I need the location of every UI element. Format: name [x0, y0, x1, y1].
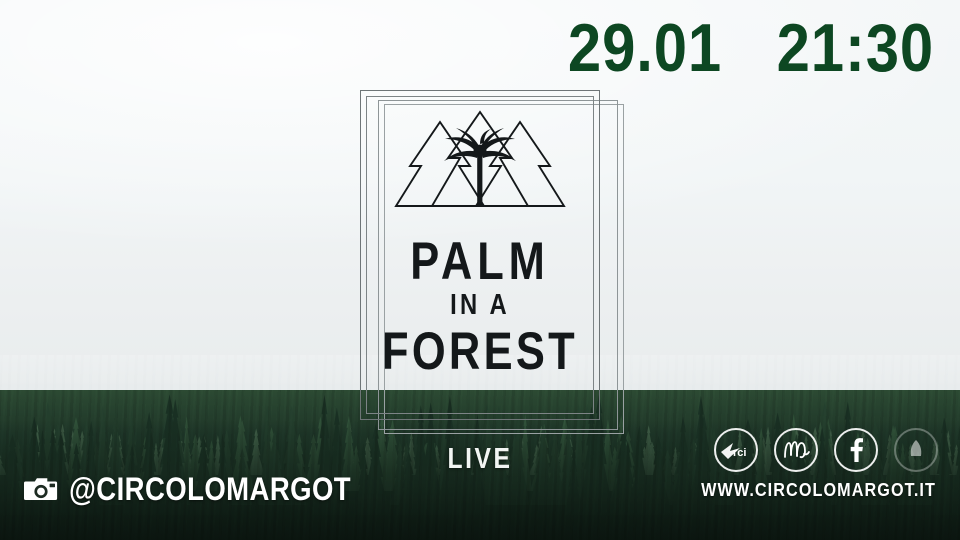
logo-title-forest: FOREST — [382, 325, 579, 378]
website-url[interactable]: WWW.CIRCOLOMARGOT.IT — [701, 481, 936, 499]
logo-title-in-a: IN A — [382, 291, 579, 320]
instagram-camera-icon — [24, 472, 58, 506]
event-time: 21:30 — [777, 14, 934, 82]
svg-text:rci: rci — [733, 447, 746, 459]
margot-monogram-badge[interactable] — [774, 428, 818, 472]
instagram-handle[interactable]: @CIRCOLOMARGOT — [24, 472, 397, 506]
arci-logo-badge[interactable]: rci — [714, 428, 758, 472]
live-label: LIVE — [378, 445, 582, 474]
logo-frame-group: PALM IN A FOREST — [360, 90, 600, 420]
event-poster: 29.01 21:30 — [0, 0, 960, 540]
instagram-handle-text: @CIRCOLOMARGOT — [69, 473, 351, 505]
facebook-badge[interactable] — [834, 428, 878, 472]
palm-in-a-forest-logo: PALM IN A FOREST — [360, 90, 600, 420]
logo-title-palm: PALM — [382, 235, 579, 288]
event-datetime: 29.01 21:30 — [568, 14, 934, 82]
event-date: 29.01 — [568, 14, 722, 82]
sponsor-badges: rci — [714, 428, 938, 472]
partner-badge[interactable] — [894, 428, 938, 472]
palm-in-triangles-icon — [388, 106, 572, 228]
